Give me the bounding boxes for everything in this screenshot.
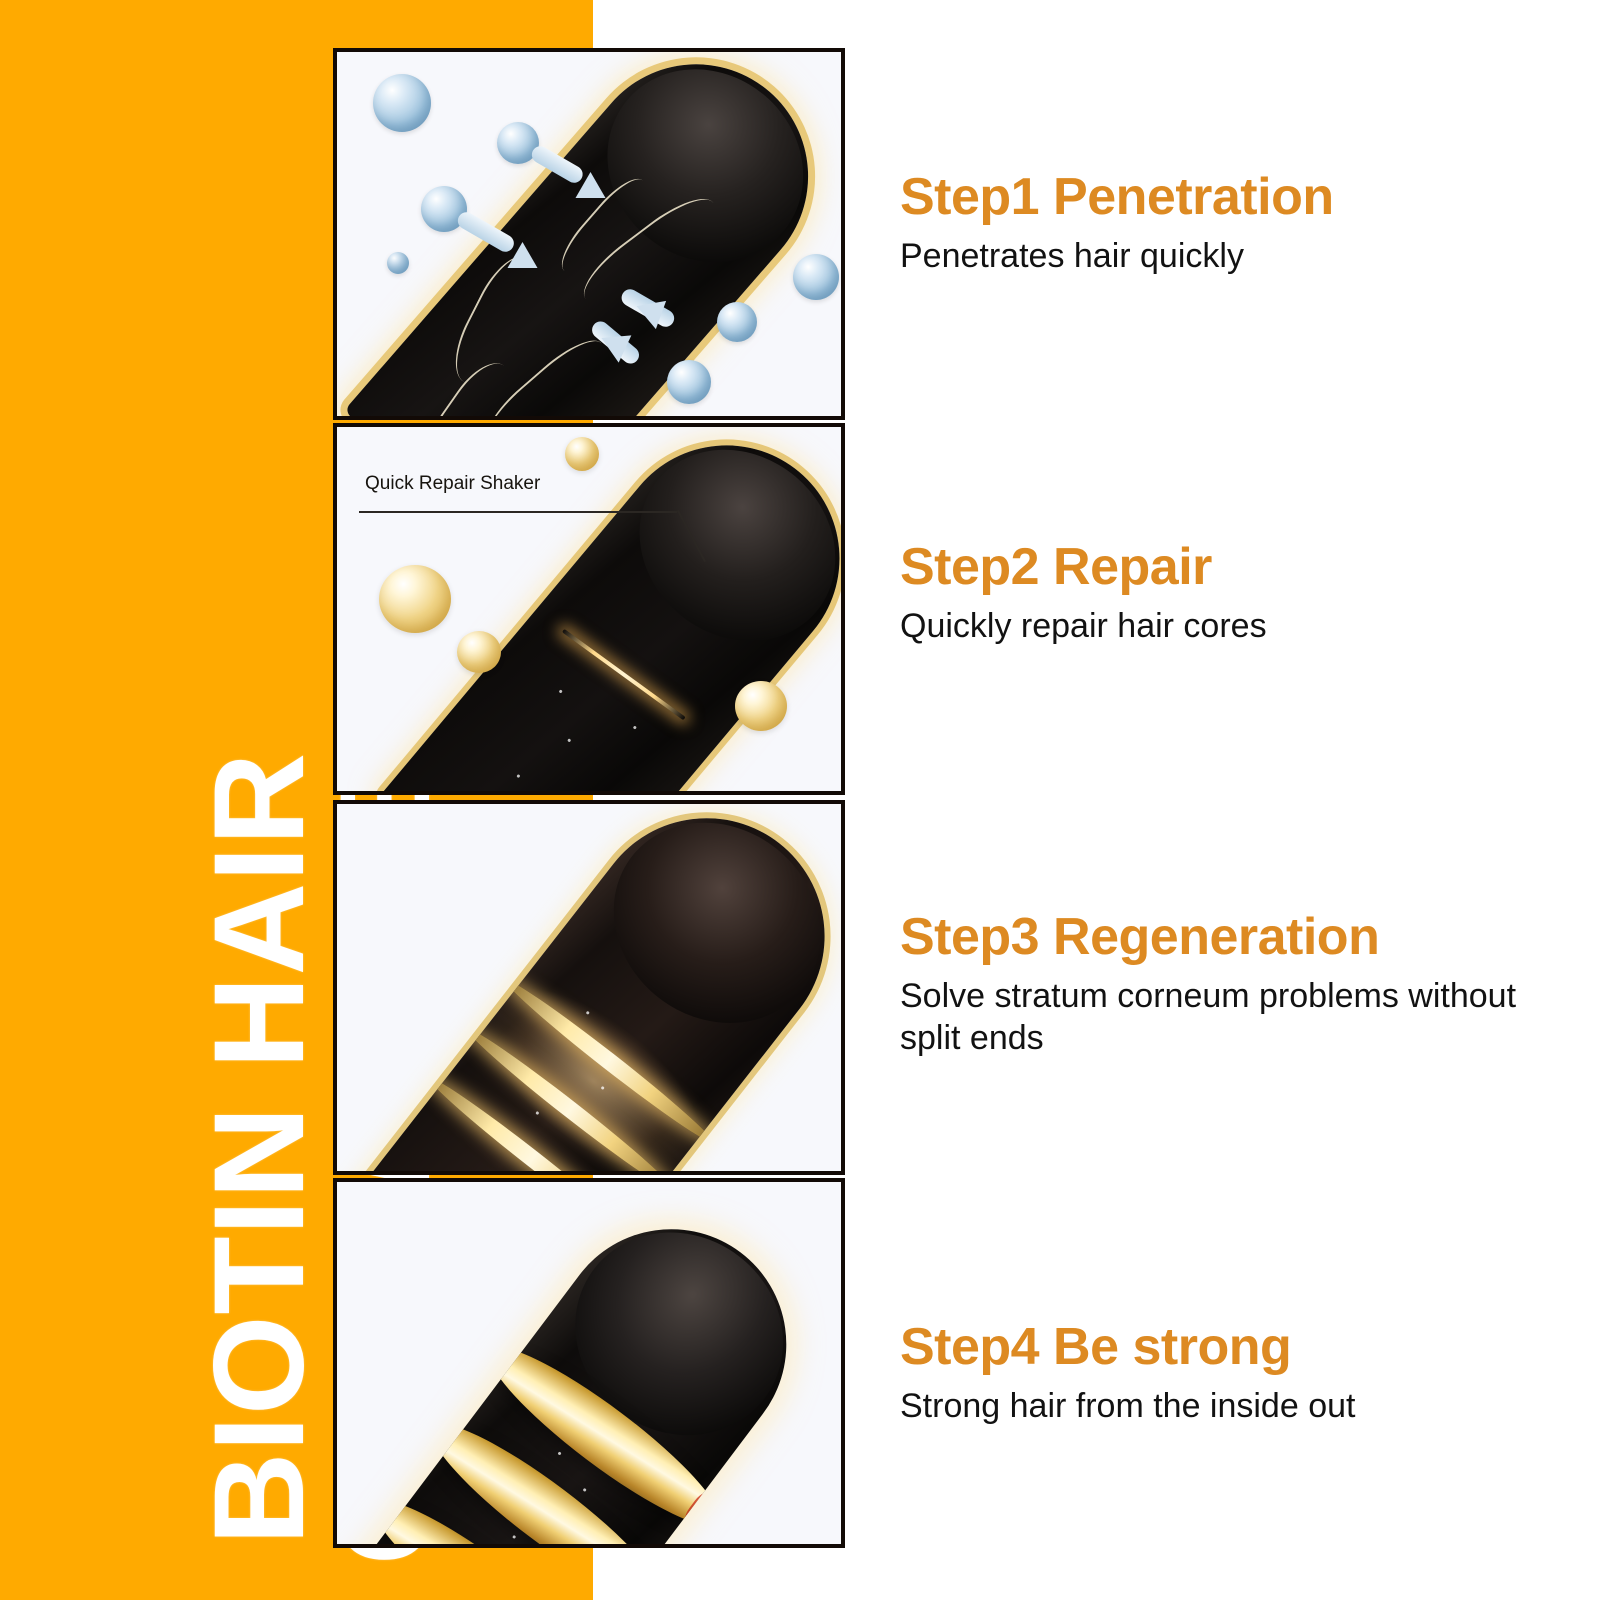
hair-shaft-strengthened-icon [337,1183,832,1544]
micro-speck [583,1488,587,1492]
step-3-title: Step3 Regeneration [900,910,1560,965]
micro-speck [559,689,563,693]
water-droplet-icon [373,74,431,132]
panel-4-artwork [337,1182,841,1544]
panel-3-artwork [337,804,841,1171]
repair-spark-icon [562,629,686,720]
callout-leader-line [359,511,677,513]
hair-shaft-tip [601,427,841,681]
step-2-illustration-panel: Quick Repair Shaker [333,423,845,795]
hair-shaft-regenerating-icon [354,804,841,1171]
step-1-illustration-panel [333,48,845,420]
step-1-description: Penetrates hair quickly [900,235,1520,278]
band-highlight [679,1487,726,1538]
panel-1-artwork [337,52,841,416]
step-1-title: Step1 Penetration [900,170,1560,225]
quick-repair-shaker-label: Quick Repair Shaker [365,473,540,495]
step-2-title: Step2 Repair [900,540,1560,595]
steps-column: Step1 Penetration Penetrates hair quickl… [900,0,1600,1600]
step-4-description: Strong hair from the inside out [900,1385,1520,1428]
serum-droplet-icon [379,565,451,633]
micro-speck [567,738,571,742]
serum-droplet-icon [457,631,501,673]
water-droplet-icon [717,302,757,342]
brand-title-line-1: BIOTIN HAIR [196,752,324,1545]
micro-speck [512,1535,516,1539]
step-4-illustration-panel [333,1178,845,1548]
serum-droplet-icon [565,437,599,471]
step-item-4: Step4 Be strong Strong hair from the ins… [900,1320,1560,1427]
micro-speck [557,1451,561,1455]
step-item-3: Step3 Regeneration Solve stratum corneum… [900,910,1560,1060]
infographic-canvas: BIOTIN HAIR GROWTH SERUM [0,0,1600,1600]
water-droplet-icon [667,360,711,404]
panel-2-artwork: Quick Repair Shaker [337,427,841,791]
step-item-1: Step1 Penetration Penetrates hair quickl… [900,170,1560,277]
micro-speck [516,774,520,778]
step-3-description: Solve stratum corneum problems without s… [900,975,1520,1060]
serum-droplet-icon [735,681,787,731]
micro-speck [633,725,637,729]
step-item-2: Step2 Repair Quickly repair hair cores [900,540,1560,647]
step-3-illustration-panel [333,800,845,1175]
water-droplet-icon [387,252,409,274]
step-2-description: Quickly repair hair cores [900,605,1520,648]
water-droplet-icon [793,254,839,300]
step-4-title: Step4 Be strong [900,1320,1560,1375]
